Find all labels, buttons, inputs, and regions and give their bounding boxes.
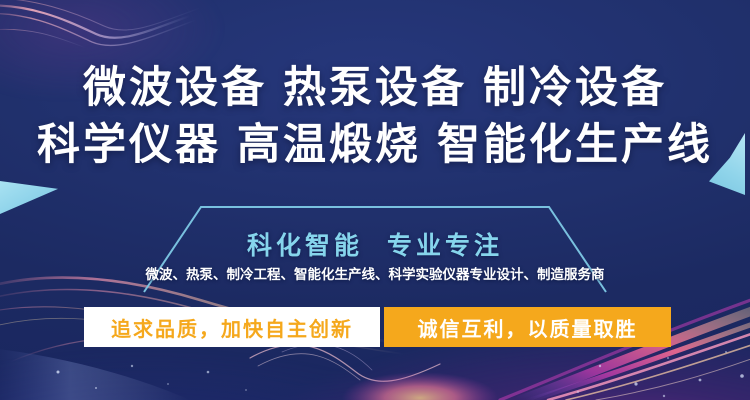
headline-item-heatpump: 热泵设备 [283,63,467,113]
promo-banner: 微波设备热泵设备制冷设备 科学仪器高温煅烧智能化生产线 科化智能专业专注 微波、… [0,0,750,400]
tagline-subtitle: 微波、热泵、制冷工程、智能化生产线、科学实验仪器专业设计、制造服务商 [143,263,607,283]
headline: 微波设备热泵设备制冷设备 科学仪器高温煅烧智能化生产线 [0,60,750,174]
tagline-panel: 科化智能专业专注 微波、热泵、制冷工程、智能化生产线、科学实验仪器专业设计、制造… [143,205,607,293]
slogan-bar: 追求品质，加快自主创新 诚信互利，以质量取胜 [84,307,671,347]
slogan-box-left: 追求品质，加快自主创新 [84,307,380,347]
headline-item-instruments: 科学仪器 [37,120,221,170]
headline-item-calcination: 高温煅烧 [237,120,421,170]
headline-line-2: 科学仪器高温煅烧智能化生产线 [0,117,750,174]
headline-item-microwave: 微波设备 [83,63,267,113]
tagline-main: 科化智能专业专注 [143,226,607,262]
headline-line-1: 微波设备热泵设备制冷设备 [0,60,750,117]
slogan-box-right: 诚信互利，以质量取胜 [384,307,671,347]
tagline-main-left: 科化智能 [247,231,363,260]
tagline-main-right: 专业专注 [387,231,503,260]
headline-item-refrigeration: 制冷设备 [483,63,667,113]
headline-item-production-line: 智能化生产线 [437,120,713,170]
